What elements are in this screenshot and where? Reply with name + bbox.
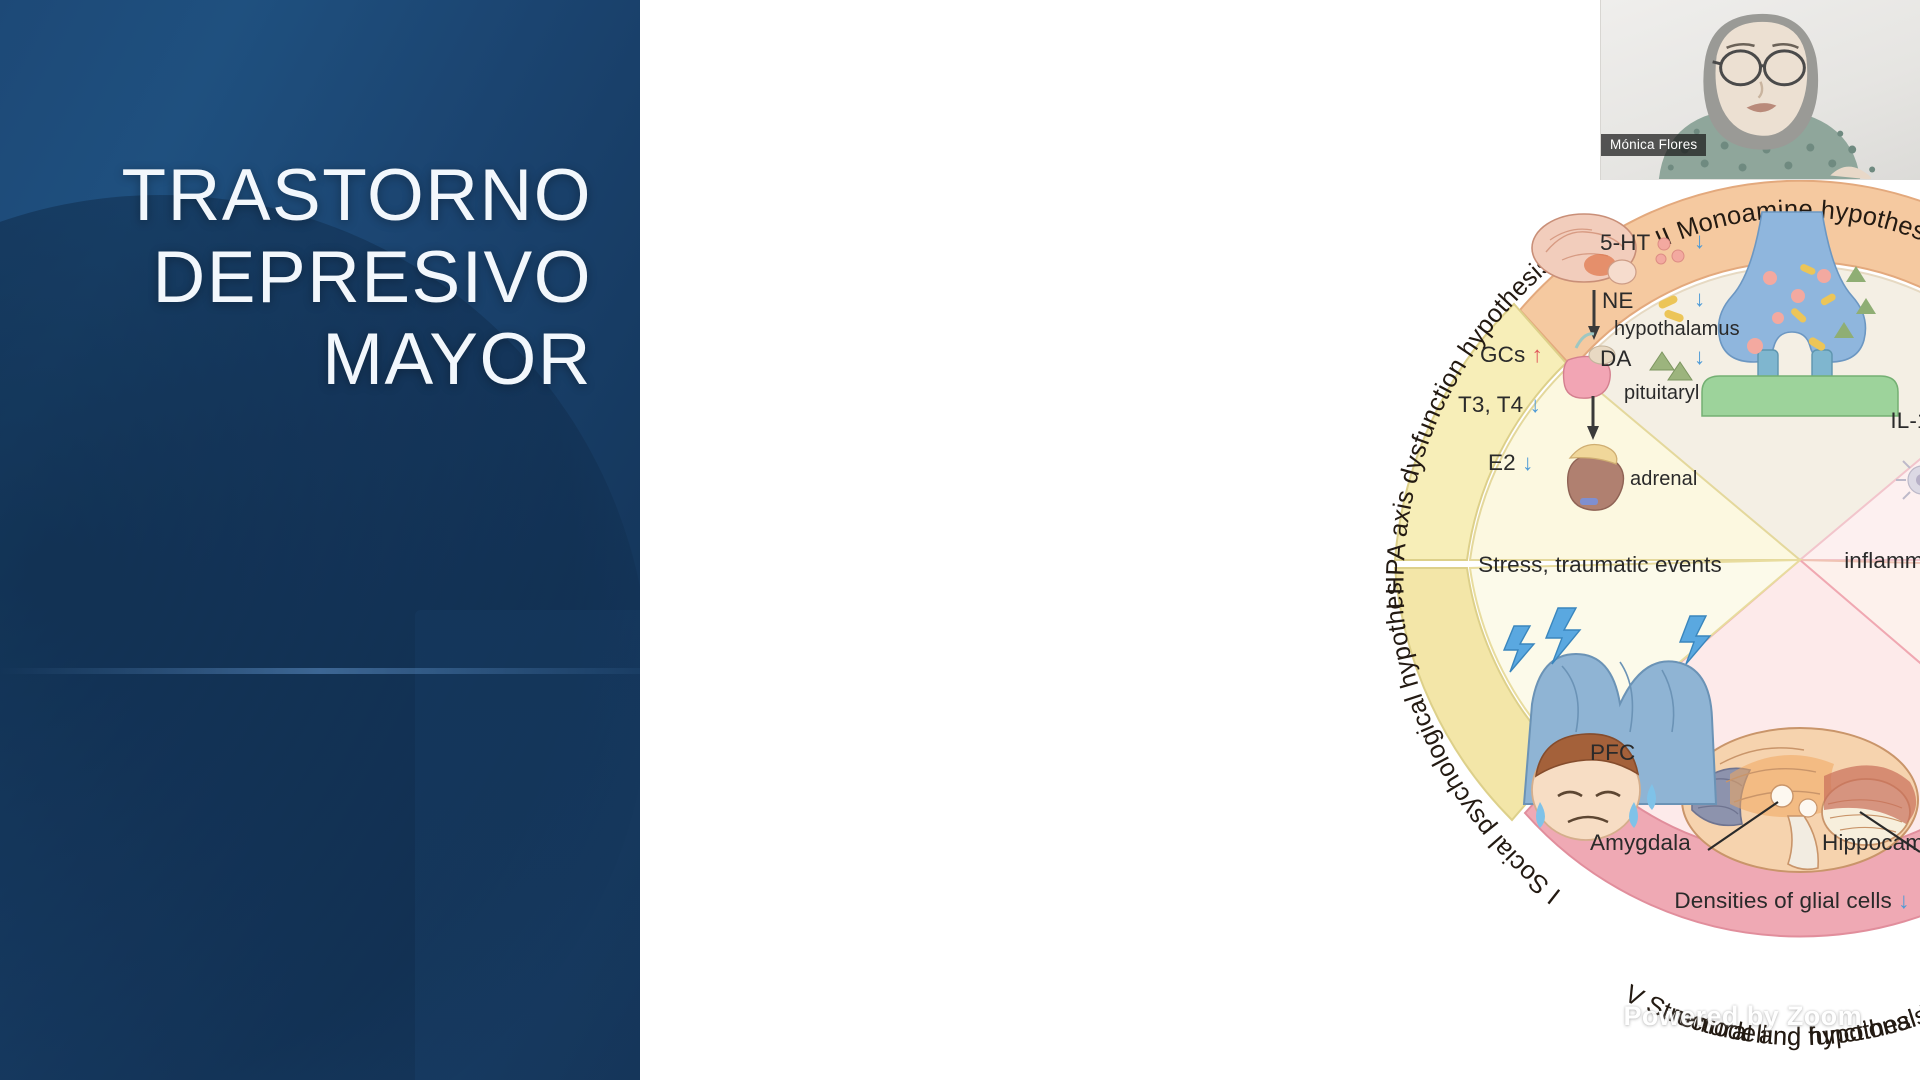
label-pituitaryl: pituitaryl (1624, 382, 1699, 405)
arrow-down-icon-5ht: ↓ (1694, 228, 1705, 254)
label-5ht: 5-HT (1600, 230, 1650, 256)
participant-video-tile[interactable]: Mónica Flores (1600, 0, 1920, 180)
label-da: DA (1600, 346, 1631, 372)
label-e2: E2 ↓ (1488, 450, 1533, 476)
arrow-down-icon-ne: ↓ (1694, 286, 1705, 312)
zoom-watermark: Powered by Zoom (1623, 1001, 1862, 1032)
label-da-text: DA (1600, 346, 1631, 371)
label-pfc: PFC (1590, 740, 1635, 766)
participant-name-label: Mónica Flores (1601, 134, 1706, 156)
label-hypothalamus: hypothalamus (1614, 318, 1740, 341)
mdd-pathogenesis-wheel-diagram: II Monoamine hypothesis I HPA axis dysfu… (1300, 60, 1920, 1060)
arrow-down-icon: ↓ (1530, 392, 1541, 417)
label-5ht-text: 5-HT (1600, 230, 1650, 255)
adrenal-illustration (1568, 445, 1624, 511)
screen-root: TRASTORNO DEPRESIVO MAYOR (0, 0, 1920, 1080)
label-glial-cells: Densities of glial cells ↓ (1674, 888, 1909, 914)
label-inflammasome-activation: inflammasome activation ↑ (1844, 548, 1920, 574)
label-ne: NE (1602, 288, 1633, 314)
label-amygdala: Amygdala (1590, 830, 1691, 856)
label-gcs-text: GCs (1480, 342, 1525, 367)
label-adrenal: adrenal (1630, 468, 1697, 491)
slide-title: TRASTORNO DEPRESIVO MAYOR (60, 155, 592, 400)
arrow-down-icon-da: ↓ (1694, 344, 1705, 370)
label-cytokines-text: IL-1β, TNF-α, IL-6 (1890, 408, 1920, 433)
presentation-slide-left: TRASTORNO DEPRESIVO MAYOR (0, 0, 640, 1080)
label-ne-text: NE (1602, 288, 1633, 313)
arrow-down-icon: ↓ (1898, 888, 1909, 913)
label-hippocampus: Hippocampus (1822, 830, 1920, 856)
label-t3-t4: T3, T4 ↓ (1458, 392, 1541, 418)
slide-divider-line (0, 668, 640, 674)
arrow-down-icon: ↓ (1522, 450, 1533, 475)
label-cytokines: IL-1β, TNF-α, IL-6 ↑ (1890, 408, 1920, 434)
label-inflammasome-text: inflammasome activation (1844, 548, 1920, 573)
label-gcs: GCs ↑ (1480, 342, 1543, 368)
label-e2-text: E2 (1488, 450, 1516, 475)
label-stress-traumatic-events: Stress, traumatic events (1478, 552, 1722, 578)
label-t3-t4-text: T3, T4 (1458, 392, 1523, 417)
arrow-up-icon: ↑ (1532, 342, 1543, 367)
label-glial-cells-text: Densities of glial cells (1674, 888, 1892, 913)
slide-background-block (415, 610, 640, 1080)
